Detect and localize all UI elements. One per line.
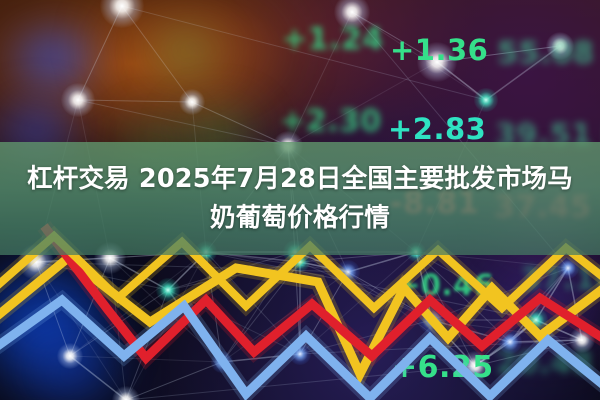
page-title: 杠杆交易 2025年7月28日全国主要批发市场马 奶葡萄价格行情 (0, 142, 600, 255)
title-line-2: 奶葡萄价格行情 (210, 199, 390, 238)
banner-image: +1.24+1.3655.08 M+2.30+2.8339.51 M-8.813… (0, 0, 600, 400)
title-line-1: 杠杆交易 2025年7月28日全国主要批发市场马 (13, 160, 587, 199)
